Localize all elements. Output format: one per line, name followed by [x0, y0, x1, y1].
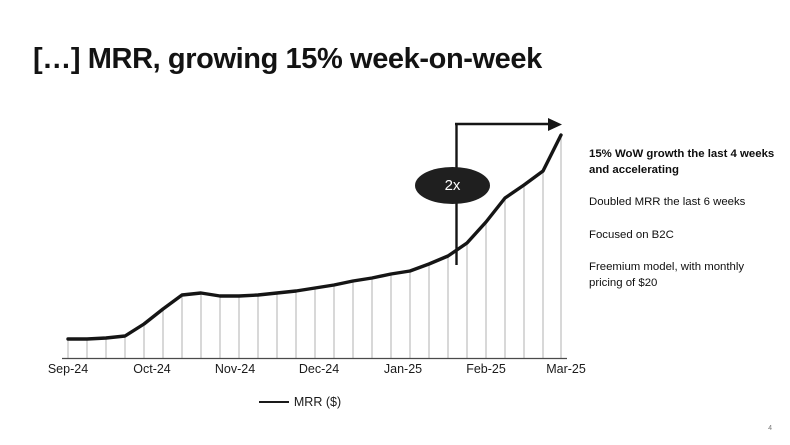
x-tick-label-nov-24: Nov-24	[215, 362, 255, 376]
notes-list: 15% WoW growth the last 4 weeks and acce…	[589, 147, 779, 291]
chart-legend: MRR ($)	[0, 395, 600, 409]
slide: […] MRR, growing 15% week-on-week	[0, 0, 790, 445]
page-number: 4	[768, 425, 772, 432]
x-tick-label-dec-24: Dec-24	[299, 362, 339, 376]
x-axis-labels: Sep-24 Oct-24 Nov-24 Dec-24 Jan-25 Feb-2…	[0, 362, 600, 382]
note-item-doubled-mrr: Doubled MRR the last 6 weeks	[589, 195, 779, 211]
callout-2x-badge: 2x	[415, 167, 490, 204]
x-tick-label-mar-25: Mar-25	[546, 362, 586, 376]
mrr-chart: Sep-24 Oct-24 Nov-24 Dec-24 Jan-25 Feb-2…	[0, 110, 600, 410]
legend-label-mrr: MRR ($)	[294, 395, 341, 409]
note-item-pricing: Freemium model, with monthly pricing of …	[589, 260, 779, 291]
callout-2x-text: 2x	[445, 177, 461, 194]
x-tick-label-sep-24: Sep-24	[48, 362, 88, 376]
x-tick-label-oct-24: Oct-24	[133, 362, 171, 376]
note-item-growth: 15% WoW growth the last 4 weeks and acce…	[589, 147, 779, 178]
x-tick-label-feb-25: Feb-25	[466, 362, 506, 376]
page-title: […] MRR, growing 15% week-on-week	[33, 43, 542, 76]
x-tick-label-jan-25: Jan-25	[384, 362, 422, 376]
legend-line-marker	[259, 401, 289, 403]
note-item-focus: Focused on B2C	[589, 228, 779, 244]
